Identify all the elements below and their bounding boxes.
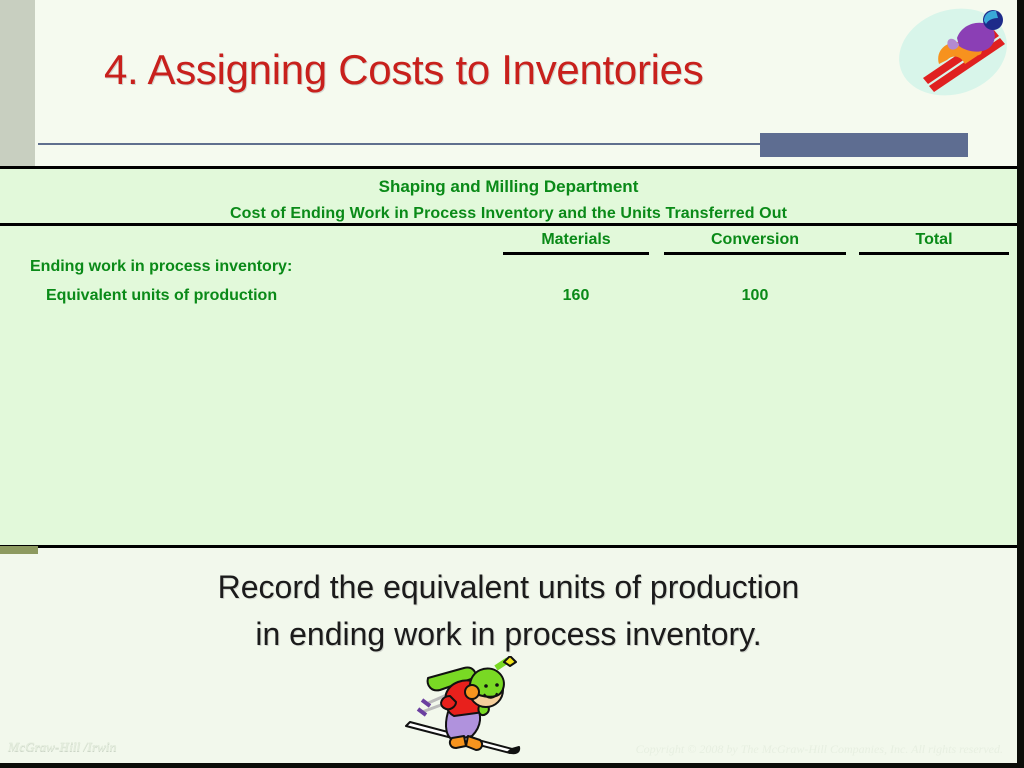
column-header-materials: Materials [503,231,649,255]
column-header-total-label: Total [915,231,952,248]
table-row-label-equivalent-units: Equivalent units of production [46,287,277,305]
downhill-skier-logo-icon [895,2,1017,102]
table-cell-conversion-equivalent-units: 100 [664,287,846,305]
column-header-conversion-label: Conversion [711,231,799,248]
footer-copyright-label: Copyright © 2008 by The McGraw-Hill Comp… [636,742,1003,757]
cartoon-skier-icon [398,656,528,761]
column-header-conversion-rule [664,252,846,255]
column-header-total-rule [859,252,1009,255]
slide-caption: Record the equivalent units of productio… [0,564,1017,658]
footer-olive-accent-strip [0,546,38,554]
table-row-label-ending-wip: Ending work in process inventory: [30,258,292,276]
table-cell-materials-equivalent-units: 160 [503,287,649,305]
cost-report-table: Shaping and Milling Department Cost of E… [0,166,1017,548]
presentation-slide: 4. Assigning Costs to Inventories [0,0,1024,768]
slide-caption-line-2: in ending work in process inventory. [0,611,1017,658]
table-title-line-1: Shaping and Milling Department [0,173,1017,200]
header-gray-accent-strip [0,0,35,166]
slide-header: 4. Assigning Costs to Inventories [0,0,1017,166]
column-header-materials-rule [503,252,649,255]
column-header-total: Total [859,231,1009,255]
table-title-divider [0,223,1017,226]
slide-caption-line-1: Record the equivalent units of productio… [0,564,1017,611]
header-accent-block [760,133,968,157]
page-title: 4. Assigning Costs to Inventories [104,46,703,94]
column-header-conversion: Conversion [664,231,846,255]
column-header-materials-label: Materials [541,231,610,248]
footer-publisher-label: McGraw-Hill /Irwin [8,739,117,755]
table-title: Shaping and Milling Department Cost of E… [0,173,1017,227]
